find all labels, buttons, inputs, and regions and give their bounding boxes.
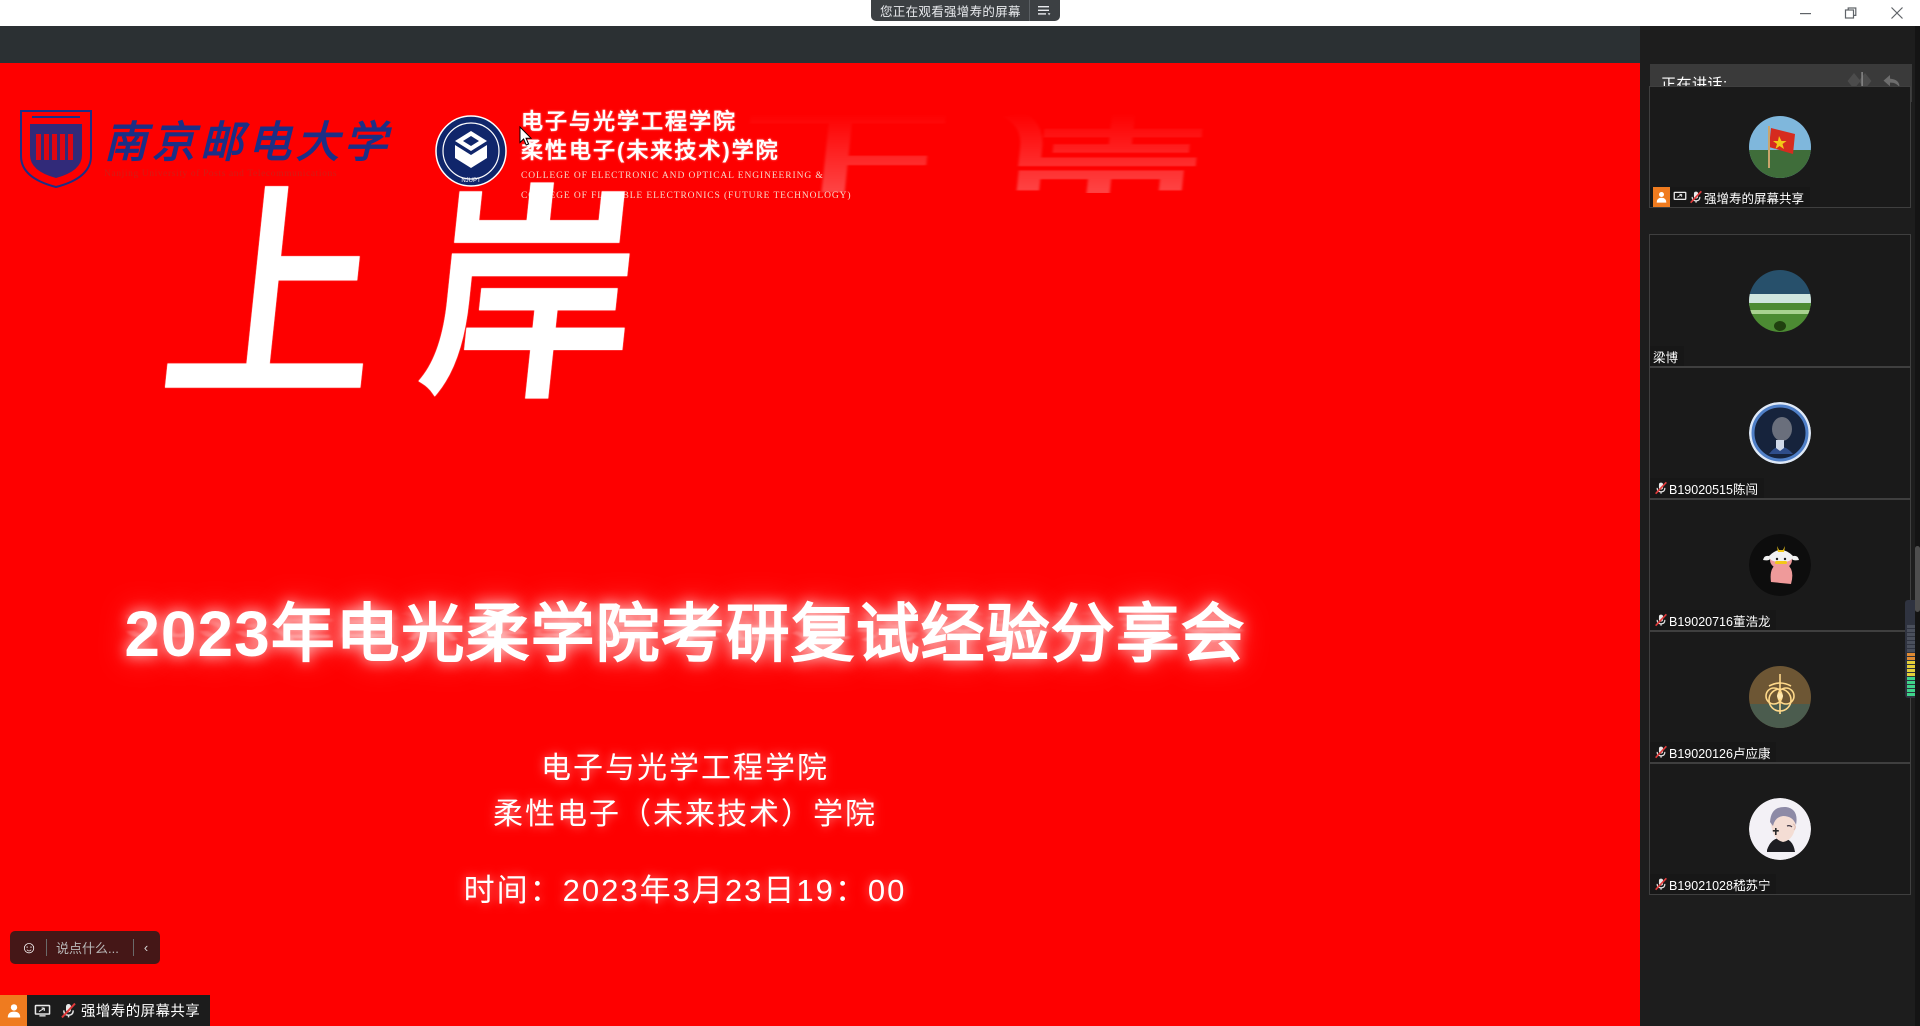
golden-sigil-avatar bbox=[1749, 666, 1811, 728]
emoji-smile-icon[interactable]: ☺ bbox=[12, 931, 46, 964]
window-titlebar: 您正在观看强增寿的屏幕 bbox=[0, 0, 1920, 26]
mouse-cursor bbox=[519, 126, 533, 152]
calligraphy-text: 上岸 bbox=[107, 185, 695, 412]
screen-share-icon bbox=[31, 995, 53, 1026]
nupt-shield-icon bbox=[18, 108, 94, 190]
presentation-slide: 南京邮电大学 Nanjing University of Posts and T… bbox=[0, 63, 1640, 1026]
pink-slowking-avatar bbox=[1749, 534, 1811, 596]
tile-name: B19021028嵇苏宁 bbox=[1669, 875, 1770, 894]
calligraphy-block: 上岸 上岸 bbox=[0, 193, 1370, 403]
tile-name: 强增寿的屏幕共享 bbox=[1704, 188, 1804, 207]
hamburger-menu-icon[interactable] bbox=[1030, 0, 1060, 21]
tile-label: 强增寿的屏幕共享 bbox=[1650, 187, 1810, 207]
participant-tile[interactable]: B19021028嵇苏宁 bbox=[1649, 763, 1911, 895]
mic-muted-icon bbox=[1653, 478, 1669, 498]
slide-time-line: 时间：2023年3月23日19：00 bbox=[0, 865, 1370, 910]
rail-scrollbar-track[interactable] bbox=[1915, 26, 1920, 1026]
chevron-left-icon[interactable]: ‹ bbox=[134, 931, 158, 964]
calligraphy-reflection: 上岸 bbox=[687, 105, 1260, 193]
tile-name: B19020716董浩龙 bbox=[1669, 611, 1770, 630]
participant-tile[interactable]: 强增寿的屏幕共享 bbox=[1649, 86, 1911, 208]
party-flag-avatar bbox=[1749, 116, 1811, 178]
mic-muted-icon bbox=[1653, 742, 1669, 762]
tile-name: B19020515陈闯 bbox=[1669, 479, 1758, 498]
chat-composer[interactable]: ☺ 说点什么... ‹ bbox=[10, 931, 160, 964]
close-icon[interactable] bbox=[1874, 0, 1920, 26]
participant-rail: 正在讲话: bbox=[1640, 26, 1920, 1026]
host-person-icon bbox=[0, 995, 27, 1026]
anime-boy-avatar bbox=[1749, 798, 1811, 860]
mic-muted-icon bbox=[1653, 874, 1669, 894]
slide-subtitle-1: 电子与光学工程学院 bbox=[0, 743, 1370, 787]
nupt-name-cn: 南京邮电大学 bbox=[104, 122, 392, 165]
screen-share-banner[interactable]: 您正在观看强增寿的屏幕 bbox=[871, 0, 1060, 21]
tile-name: B19020126卢应康 bbox=[1669, 743, 1770, 762]
grassland-landscape-avatar bbox=[1749, 270, 1811, 332]
participant-tiles: 强增寿的屏幕共享 梁博 bbox=[1640, 86, 1920, 1026]
tile-label: B19020716董浩龙 bbox=[1650, 610, 1776, 630]
screen-share-banner-text: 您正在观看强增寿的屏幕 bbox=[880, 1, 1021, 20]
presenter-status-bar: 强增寿的屏幕共享 bbox=[0, 995, 210, 1026]
participant-tile[interactable]: B19020515陈闯 bbox=[1649, 367, 1911, 499]
participant-tile[interactable]: B19020716董浩龙 bbox=[1649, 499, 1911, 631]
tile-name: 梁博 bbox=[1653, 347, 1678, 366]
participant-tile[interactable]: 梁博 bbox=[1649, 234, 1911, 367]
slide-subtitle-2: 柔性电子（未来技术）学院 bbox=[0, 789, 1370, 833]
tile-label: B19020126卢应康 bbox=[1650, 742, 1776, 762]
tile-label: B19020515陈闯 bbox=[1650, 478, 1764, 498]
blue-crest-portrait-avatar bbox=[1749, 402, 1811, 464]
host-person-icon bbox=[1653, 187, 1670, 207]
stage-letterbox bbox=[0, 26, 1640, 63]
minimize-icon[interactable] bbox=[1782, 0, 1828, 26]
mic-muted-icon bbox=[1688, 187, 1704, 207]
meeting-window: 您正在观看强增寿的屏幕 bbox=[0, 0, 1920, 1026]
mic-muted-icon bbox=[57, 995, 79, 1026]
tile-label: B19021028嵇苏宁 bbox=[1650, 874, 1776, 894]
chat-input[interactable]: 说点什么... bbox=[47, 938, 133, 957]
slide-main-title-reflection: 2023年电光柔学院考研复试经验分享会 bbox=[0, 605, 1370, 651]
mic-muted-icon bbox=[1653, 610, 1669, 630]
participant-tile[interactable]: B19020126卢应康 bbox=[1649, 631, 1911, 763]
restore-icon[interactable] bbox=[1828, 0, 1874, 26]
screen-share-icon bbox=[1672, 187, 1688, 207]
rail-scrollbar-thumb[interactable] bbox=[1915, 546, 1920, 612]
tile-label: 梁博 bbox=[1650, 346, 1684, 366]
presenter-name: 强增寿的屏幕共享 bbox=[81, 1000, 200, 1021]
shared-screen-stage[interactable]: 南京邮电大学 Nanjing University of Posts and T… bbox=[0, 26, 1640, 1026]
